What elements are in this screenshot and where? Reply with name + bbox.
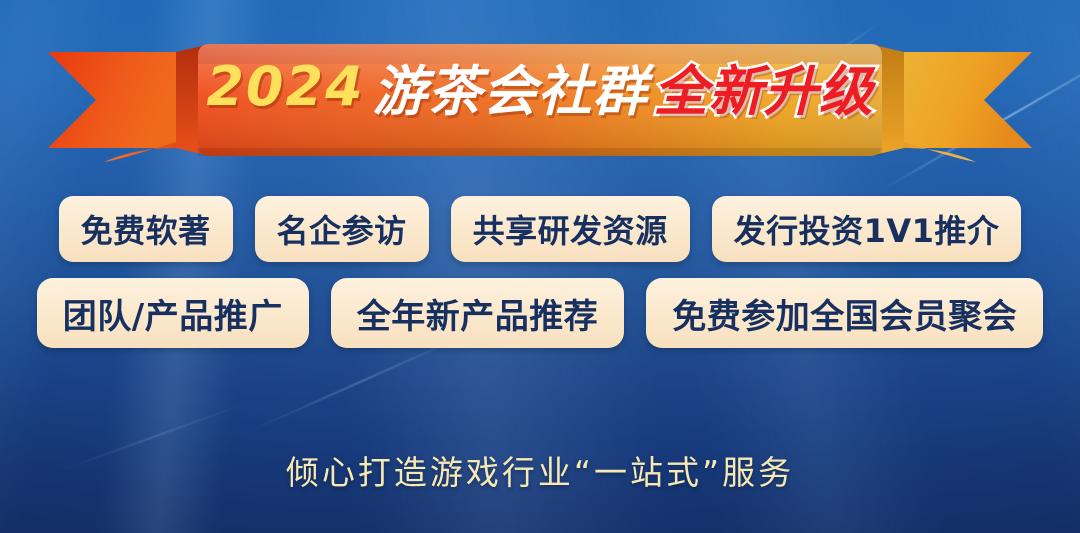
promo-poster: 2024 游茶会社群 全新升级 免费软著 名企参访 共享研发资源 发行投资1V1…	[0, 0, 1080, 533]
banner-title: 2024 游茶会社群 全新升级	[0, 30, 1080, 142]
benefit-label: 团队/产品推广	[63, 289, 283, 338]
benefit-label: 免费参加全国会员聚会	[672, 289, 1017, 338]
poster-tagline: 倾心打造游戏行业“一站式”服务	[0, 446, 1080, 494]
benefits-row-2: 团队/产品推广 全年新产品推荐 免费参加全国会员聚会	[0, 278, 1080, 348]
benefit-pill-company-visits[interactable]: 名企参访	[255, 196, 429, 262]
benefits-section: 免费软著 名企参访 共享研发资源 发行投资1V1推介 团队/产品推广 全年新产品…	[0, 196, 1080, 348]
benefit-label: 免费软著	[81, 206, 211, 252]
benefit-pill-team-product-promotion[interactable]: 团队/产品推广	[37, 278, 309, 348]
benefit-label: 共享研发资源	[473, 206, 668, 252]
banner-year: 2024	[206, 55, 364, 118]
benefits-row-1: 免费软著 名企参访 共享研发资源 发行投资1V1推介	[0, 196, 1080, 262]
benefit-label: 发行投资1V1推介	[734, 206, 1000, 252]
benefit-label: 全年新产品推荐	[357, 289, 599, 338]
benefit-pill-free-national-member-gathering[interactable]: 免费参加全国会员聚会	[646, 278, 1043, 348]
banner-name: 游茶会社群	[373, 47, 648, 126]
banner-highlight: 全新升级	[654, 47, 874, 126]
benefit-pill-shared-rd-resources[interactable]: 共享研发资源	[451, 196, 690, 262]
benefit-pill-yearly-new-product-recommendation[interactable]: 全年新产品推荐	[331, 278, 625, 348]
benefit-pill-publishing-investment-1v1[interactable]: 发行投资1V1推介	[712, 196, 1022, 262]
benefit-label: 名企参访	[277, 206, 407, 252]
benefit-pill-free-software-copyright[interactable]: 免费软著	[59, 196, 233, 262]
